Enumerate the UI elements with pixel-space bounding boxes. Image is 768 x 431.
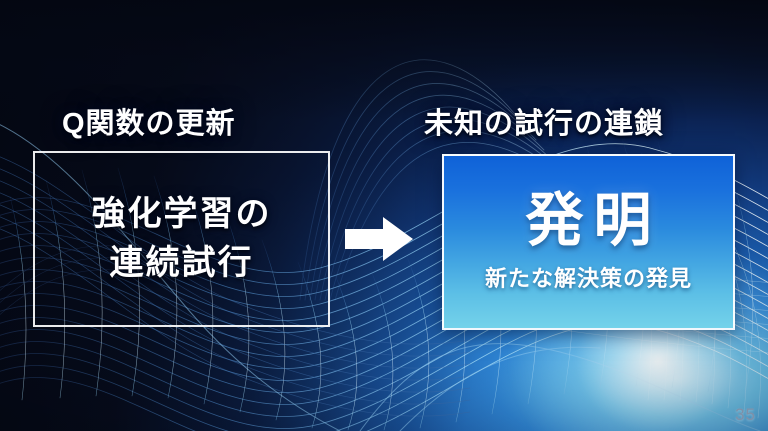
left-panel: 強化学習の 連続試行 <box>33 151 330 327</box>
slide-content: Q関数の更新 未知の試行の連鎖 強化学習の 連続試行 発明 新たな解決策の発見 … <box>0 0 768 431</box>
presentation-slide: Q関数の更新 未知の試行の連鎖 強化学習の 連続試行 発明 新たな解決策の発見 … <box>0 0 768 431</box>
left-panel-line-1: 強化学習の <box>92 192 272 237</box>
right-panel-title: 発明 <box>515 191 661 252</box>
page-number: 35 <box>735 405 756 425</box>
right-panel: 発明 新たな解決策の発見 <box>442 154 735 330</box>
arrow-right-icon <box>345 215 413 263</box>
right-heading: 未知の試行の連鎖 <box>424 100 664 142</box>
right-panel-subtitle: 新たな解決策の発見 <box>485 261 692 293</box>
left-panel-line-2: 連続試行 <box>110 241 254 286</box>
left-heading: Q関数の更新 <box>62 100 236 142</box>
